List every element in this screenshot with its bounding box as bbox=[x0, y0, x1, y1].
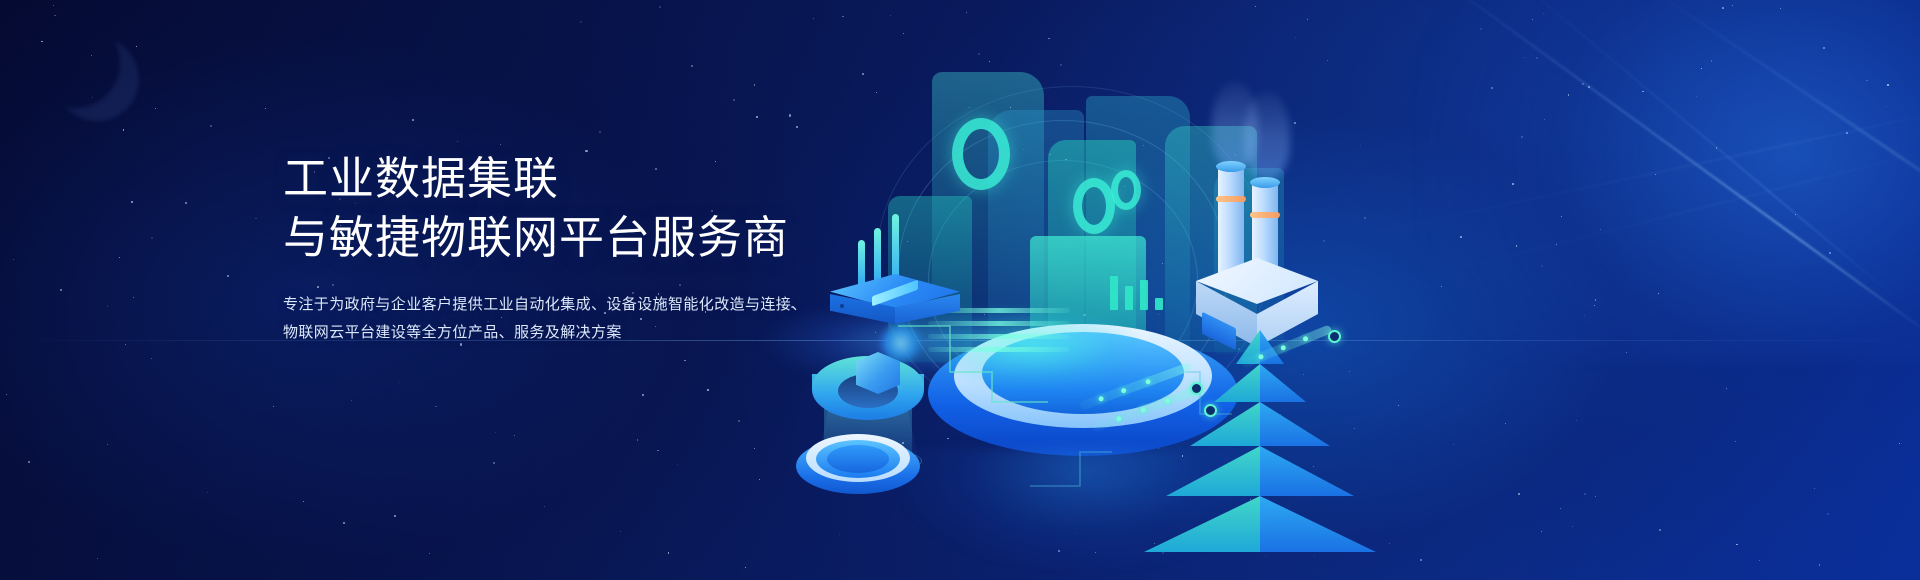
page-title: 工业数据集联 与敏捷物联网平台服务商 bbox=[283, 150, 843, 267]
hero-subtitle: 专注于为政府与企业客户提供工业自动化集成、设备设施智能化改造与连接、 物联网云平… bbox=[283, 291, 843, 347]
connection-node bbox=[1204, 404, 1217, 417]
crescent-glow-icon bbox=[30, 18, 120, 108]
wire-router-to-platform bbox=[898, 326, 1048, 402]
hero-banner: 工业数据集联 与敏捷物联网平台服务商 专注于为政府与企业客户提供工业自动化集成、… bbox=[0, 0, 1920, 580]
connection-node bbox=[1190, 382, 1203, 395]
subtitle-line-2: 物联网云平台建设等全方位产品、服务及解决方案 bbox=[283, 319, 843, 347]
connection-node bbox=[1328, 330, 1341, 343]
hero-copy: 工业数据集联 与敏捷物联网平台服务商 专注于为政府与企业客户提供工业自动化集成、… bbox=[283, 150, 843, 347]
headline-line-2: 与敏捷物联网平台服务商 bbox=[283, 209, 843, 268]
headline-line-1: 工业数据集联 bbox=[283, 153, 559, 204]
subtitle-line-1: 专注于为政府与企业客户提供工业自动化集成、设备设施智能化改造与连接、 bbox=[283, 291, 843, 319]
wire-platform-to-disc bbox=[1030, 452, 1112, 486]
connection-wires bbox=[780, 0, 1920, 580]
hero-illustration bbox=[780, 0, 1920, 580]
